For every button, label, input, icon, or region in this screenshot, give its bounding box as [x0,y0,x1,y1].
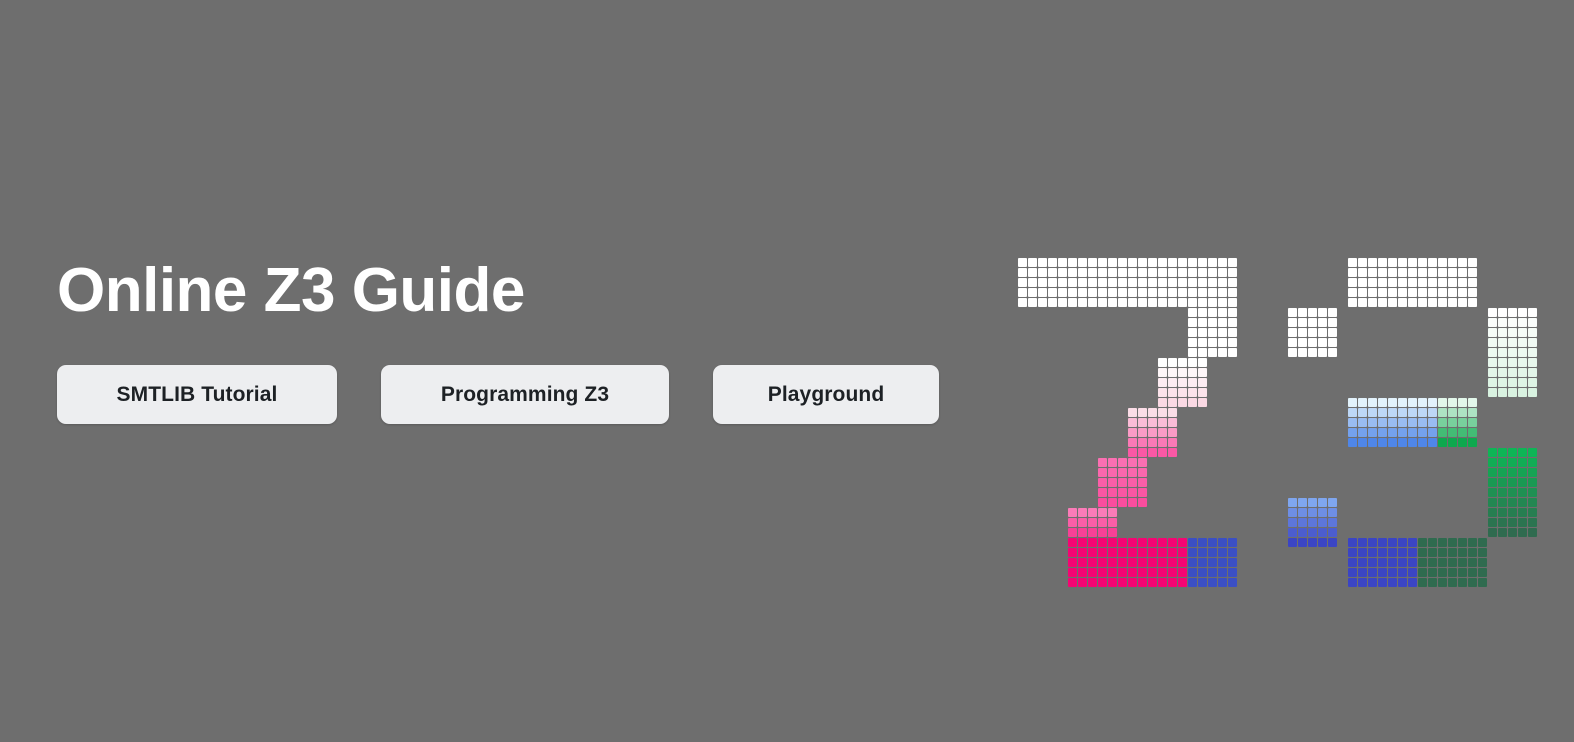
logo-pixel [1078,538,1087,547]
logo-pixel [1528,318,1537,327]
logo-pixel [1168,418,1177,427]
logo-pixel [1138,548,1147,557]
logo-pixel [1118,458,1127,467]
logo-pixel [1438,278,1447,287]
logo-pixel [1148,438,1157,447]
logo-pixel [1178,268,1187,277]
logo-pixel [1318,348,1327,357]
logo-pixel [1318,498,1327,507]
logo-pixel [1068,568,1077,577]
logo-pixel [1128,438,1137,447]
logo-pixel [1308,338,1317,347]
logo-pixel [1388,438,1397,447]
logo-pixel [1308,318,1317,327]
logo-pixel [1208,578,1217,587]
logo-pixel [1218,318,1227,327]
logo-pixel [1078,508,1087,517]
logo-pixel [1308,308,1317,317]
logo-pixel [1348,428,1357,437]
logo-pixel [1518,458,1527,467]
logo-pixel [1408,268,1417,277]
logo-pixel [1388,418,1397,427]
logo-pixel [1508,448,1517,457]
logo-pixel [1458,408,1467,417]
logo-pixel [1038,288,1047,297]
logo-pixel [1378,408,1387,417]
logo-pixel [1528,468,1537,477]
logo-pixel [1028,298,1037,307]
logo-pixel [1428,428,1437,437]
logo-pixel [1408,288,1417,297]
logo-pixel [1398,278,1407,287]
logo-pixel [1358,578,1367,587]
logo-pixel [1228,298,1237,307]
logo-pixel [1388,568,1397,577]
logo-pixel [1198,258,1207,267]
logo-pixel [1418,268,1427,277]
logo-pixel [1308,528,1317,537]
logo-pixel [1298,508,1307,517]
logo-pixel [1208,288,1217,297]
logo-pixel [1498,518,1507,527]
logo-pixel [1488,378,1497,387]
logo-pixel [1408,428,1417,437]
logo-pixel [1478,538,1487,547]
logo-pixel [1178,568,1187,577]
logo-pixel [1218,308,1227,317]
logo-pixel [1488,518,1497,527]
logo-pixel [1348,578,1357,587]
logo-pixel [1308,508,1317,517]
logo-pixel [1098,518,1107,527]
logo-pixel [1158,398,1167,407]
logo-pixel [1188,538,1197,547]
logo-pixel [1498,318,1507,327]
logo-pixel [1098,528,1107,537]
logo-pixel [1378,258,1387,267]
logo-pixel [1468,578,1477,587]
logo-pixel [1438,258,1447,267]
logo-pixel [1198,578,1207,587]
logo-pixel [1158,428,1167,437]
logo-pixel [1138,448,1147,457]
logo-pixel [1428,408,1437,417]
logo-pixel [1218,338,1227,347]
logo-pixel [1188,258,1197,267]
logo-pixel [1018,268,1027,277]
logo-pixel [1318,328,1327,337]
logo-pixel [1388,398,1397,407]
logo-pixel [1108,548,1117,557]
logo-pixel [1388,278,1397,287]
logo-pixel [1398,398,1407,407]
logo-pixel [1408,298,1417,307]
logo-pixel [1168,288,1177,297]
logo-pixel [1328,338,1337,347]
logo-pixel [1118,558,1127,567]
logo-pixel [1178,558,1187,567]
logo-pixel [1068,288,1077,297]
logo-pixel [1098,488,1107,497]
logo-pixel [1508,508,1517,517]
logo-pixel [1038,278,1047,287]
logo-pixel [1178,258,1187,267]
logo-pixel [1468,288,1477,297]
logo-pixel [1488,388,1497,397]
logo-pixel [1198,558,1207,567]
logo-pixel [1228,318,1237,327]
logo-pixel [1398,418,1407,427]
logo-pixel [1168,388,1177,397]
logo-pixel [1458,298,1467,307]
logo-pixel [1368,438,1377,447]
logo-pixel [1218,568,1227,577]
logo-pixel [1438,298,1447,307]
logo-pixel [1368,288,1377,297]
logo-pixel [1308,328,1317,337]
logo-pixel [1418,418,1427,427]
logo-pixel [1428,548,1437,557]
logo-pixel [1438,548,1447,557]
logo-pixel [1108,538,1117,547]
logo-pixel [1288,328,1297,337]
logo-pixel [1168,358,1177,367]
logo-pixel [1378,568,1387,577]
logo-pixel [1148,448,1157,457]
logo-pixel [1098,558,1107,567]
logo-pixel [1488,498,1497,507]
logo-pixel [1098,578,1107,587]
logo-pixel [1118,578,1127,587]
logo-pixel [1518,318,1527,327]
logo-pixel [1348,438,1357,447]
logo-pixel [1518,528,1527,537]
logo-pixel [1228,568,1237,577]
logo-pixel [1088,548,1097,557]
logo-pixel [1358,398,1367,407]
logo-pixel [1488,328,1497,337]
logo-pixel [1388,408,1397,417]
logo-pixel [1188,298,1197,307]
logo-pixel [1168,268,1177,277]
logo-pixel [1468,558,1477,567]
logo-pixel [1308,518,1317,527]
logo-pixel [1138,558,1147,567]
logo-pixel [1348,268,1357,277]
logo-pixel [1388,268,1397,277]
logo-pixel [1178,288,1187,297]
logo-pixel [1158,448,1167,457]
logo-pixel [1498,478,1507,487]
logo-pixel [1458,398,1467,407]
logo-pixel [1328,538,1337,547]
logo-pixel [1438,538,1447,547]
logo-pixel [1458,278,1467,287]
logo-pixel [1498,528,1507,537]
logo-pixel [1088,518,1097,527]
logo-pixel [1118,278,1127,287]
logo-pixel [1518,488,1527,497]
cta-button-row: SMTLIB Tutorial Programming Z3 Playgroun… [57,365,939,424]
logo-pixel [1088,578,1097,587]
logo-pixel [1158,438,1167,447]
logo-pixel [1518,388,1527,397]
logo-pixel [1168,428,1177,437]
logo-pixel [1288,538,1297,547]
logo-pixel [1388,538,1397,547]
logo-pixel [1128,448,1137,457]
logo-pixel [1148,568,1157,577]
logo-pixel [1368,578,1377,587]
logo-pixel [1048,258,1057,267]
logo-pixel [1198,378,1207,387]
logo-pixel [1298,538,1307,547]
logo-pixel [1348,558,1357,567]
logo-pixel [1198,328,1207,337]
playground-button[interactable]: Playground [713,365,939,424]
logo-pixel [1408,558,1417,567]
logo-pixel [1308,498,1317,507]
logo-pixel [1228,258,1237,267]
logo-pixel [1468,548,1477,557]
logo-pixel [1188,378,1197,387]
logo-pixel [1128,548,1137,557]
logo-pixel [1448,568,1457,577]
logo-pixel [1158,548,1167,557]
smtlib-tutorial-button[interactable]: SMTLIB Tutorial [57,365,337,424]
logo-pixel [1098,288,1107,297]
logo-pixel [1178,368,1187,377]
logo-pixel [1458,428,1467,437]
logo-pixel [1128,488,1137,497]
logo-pixel [1128,468,1137,477]
logo-pixel [1048,288,1057,297]
logo-pixel [1168,408,1177,417]
logo-pixel [1078,558,1087,567]
logo-pixel [1178,378,1187,387]
logo-pixel [1448,548,1457,557]
logo-pixel [1218,548,1227,557]
logo-pixel [1328,328,1337,337]
logo-pixel [1518,468,1527,477]
logo-pixel [1528,528,1537,537]
logo-pixel [1168,398,1177,407]
logo-pixel [1328,308,1337,317]
logo-pixel [1148,538,1157,547]
logo-pixel [1058,268,1067,277]
logo-pixel [1098,508,1107,517]
logo-pixel [1408,538,1417,547]
logo-pixel [1378,578,1387,587]
logo-pixel [1318,338,1327,347]
logo-pixel [1048,278,1057,287]
logo-pixel [1488,338,1497,347]
logo-pixel [1138,498,1147,507]
logo-pixel [1528,518,1537,527]
logo-pixel [1498,488,1507,497]
logo-pixel [1088,258,1097,267]
logo-pixel [1348,278,1357,287]
logo-pixel [1128,278,1137,287]
logo-pixel [1138,578,1147,587]
logo-pixel [1168,568,1177,577]
logo-pixel [1158,278,1167,287]
logo-pixel [1138,408,1147,417]
logo-pixel [1158,578,1167,587]
logo-pixel [1228,288,1237,297]
logo-pixel [1218,268,1227,277]
logo-pixel [1038,258,1047,267]
logo-pixel [1358,278,1367,287]
logo-pixel [1078,548,1087,557]
logo-pixel [1198,548,1207,557]
logo-pixel [1068,558,1077,567]
logo-pixel [1158,268,1167,277]
logo-pixel [1138,258,1147,267]
logo-pixel [1288,318,1297,327]
logo-pixel [1198,388,1207,397]
logo-pixel [1108,278,1117,287]
logo-pixel [1308,538,1317,547]
logo-pixel [1468,268,1477,277]
logo-pixel [1108,498,1117,507]
logo-pixel [1418,568,1427,577]
logo-pixel [1018,298,1027,307]
logo-pixel [1458,268,1467,277]
logo-pixel [1388,428,1397,437]
logo-pixel [1218,328,1227,337]
logo-pixel [1438,408,1447,417]
logo-pixel [1138,428,1147,437]
logo-pixel [1408,568,1417,577]
logo-pixel [1078,288,1087,297]
logo-pixel [1188,278,1197,287]
logo-pixel [1468,438,1477,447]
logo-pixel [1108,528,1117,537]
logo-pixel [1428,538,1437,547]
logo-pixel [1358,548,1367,557]
logo-pixel [1488,318,1497,327]
logo-pixel [1378,288,1387,297]
logo-pixel [1078,268,1087,277]
programming-z3-button[interactable]: Programming Z3 [381,365,669,424]
logo-pixel [1198,348,1207,357]
logo-pixel [1518,498,1527,507]
logo-pixel [1078,258,1087,267]
logo-pixel [1198,538,1207,547]
logo-pixel [1098,498,1107,507]
logo-pixel [1148,268,1157,277]
logo-pixel [1348,398,1357,407]
logo-pixel [1438,398,1447,407]
logo-pixel [1518,358,1527,367]
logo-pixel [1118,568,1127,577]
logo-pixel [1098,568,1107,577]
logo-pixel [1148,418,1157,427]
logo-pixel [1158,418,1167,427]
logo-pixel [1448,398,1457,407]
logo-pixel [1368,568,1377,577]
logo-pixel [1128,268,1137,277]
logo-pixel [1148,428,1157,437]
logo-pixel [1328,318,1337,327]
logo-pixel [1098,548,1107,557]
logo-pixel [1508,358,1517,367]
logo-pixel [1288,348,1297,357]
logo-pixel [1518,328,1527,337]
logo-pixel [1318,508,1327,517]
page-title: Online Z3 Guide [57,258,957,323]
logo-pixel [1378,268,1387,277]
logo-pixel [1168,448,1177,457]
logo-pixel [1528,488,1537,497]
logo-pixel [1378,398,1387,407]
logo-pixel [1228,578,1237,587]
logo-pixel [1458,288,1467,297]
logo-pixel [1028,288,1037,297]
logo-pixel [1168,538,1177,547]
logo-pixel [1368,268,1377,277]
logo-pixel [1128,258,1137,267]
logo-pixel [1528,448,1537,457]
logo-pixel [1428,298,1437,307]
logo-pixel [1378,278,1387,287]
logo-pixel [1418,558,1427,567]
logo-pixel [1378,548,1387,557]
logo-pixel [1198,298,1207,307]
logo-pixel [1128,558,1137,567]
logo-pixel [1508,368,1517,377]
z3-pixel-logo [1018,258,1518,580]
logo-pixel [1298,328,1307,337]
logo-pixel [1378,538,1387,547]
logo-pixel [1408,278,1417,287]
logo-pixel [1168,278,1177,287]
logo-pixel [1038,298,1047,307]
logo-pixel [1208,328,1217,337]
logo-pixel [1418,258,1427,267]
logo-pixel [1128,478,1137,487]
logo-pixel [1468,568,1477,577]
logo-pixel [1108,298,1117,307]
logo-pixel [1408,418,1417,427]
logo-pixel [1188,548,1197,557]
logo-pixel [1468,428,1477,437]
logo-pixel [1118,548,1127,557]
logo-pixel [1168,258,1177,267]
logo-pixel [1368,418,1377,427]
logo-pixel [1348,288,1357,297]
logo-pixel [1428,398,1437,407]
logo-pixel [1398,538,1407,547]
logo-pixel [1088,288,1097,297]
logo-pixel [1318,308,1327,317]
logo-pixel [1528,458,1537,467]
logo-pixel [1428,418,1437,427]
logo-pixel [1528,308,1537,317]
logo-pixel [1178,398,1187,407]
logo-pixel [1088,268,1097,277]
logo-pixel [1518,378,1527,387]
logo-pixel [1448,538,1457,547]
logo-pixel [1318,318,1327,327]
logo-pixel [1348,538,1357,547]
logo-pixel [1168,378,1177,387]
logo-pixel [1488,348,1497,357]
logo-pixel [1208,538,1217,547]
logo-pixel [1188,328,1197,337]
logo-pixel [1198,308,1207,317]
